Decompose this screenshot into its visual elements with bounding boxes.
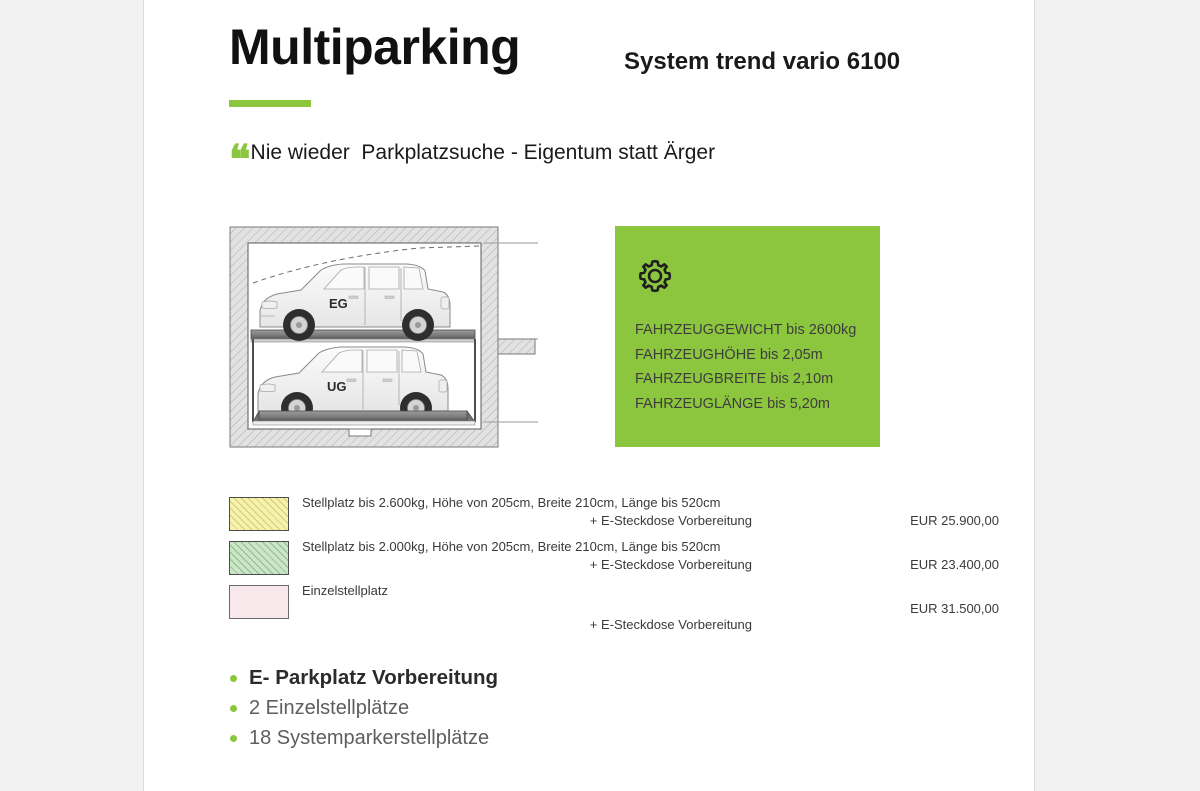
legend-line-2: + E-Steckdose Vorbereitung <box>302 600 752 634</box>
parking-lift-diagram: EG <box>229 226 539 448</box>
list-item: E- Parkplatz Vorbereitung <box>229 663 829 693</box>
right-slab <box>498 339 535 354</box>
swatch-yellow-hatched <box>229 497 289 531</box>
legend-price: EUR 25.900,00 <box>804 512 999 530</box>
spec-item-height: FAHRZEUGHÖHE bis 2,05m <box>635 343 875 368</box>
spec-item-length: FAHRZEUGLÄNGE bis 5,20m <box>635 392 875 417</box>
level-label-eg: EG <box>329 296 348 311</box>
tagline-row: ❝ Nie wieder Parkplatzsuche - Eigentum s… <box>229 136 715 170</box>
swatch-green-hatched <box>229 541 289 575</box>
document-page: Multiparking System trend vario 6100 ❝ N… <box>143 0 1035 791</box>
spec-item-width: FAHRZEUGBREITE bis 2,10m <box>635 367 875 392</box>
wheel <box>402 309 434 341</box>
legend-line-1: Stellplatz bis 2.000kg, Höhe von 205cm, … <box>302 539 720 554</box>
list-item-label: E- Parkplatz Vorbereitung <box>249 666 498 689</box>
wheel <box>283 309 315 341</box>
legend-row: Stellplatz bis 2.600kg, Höhe von 205cm, … <box>229 494 999 538</box>
legend-description: Stellplatz bis 2.600kg, Höhe von 205cm, … <box>302 494 752 530</box>
list-item: 18 Systemparkerstellplätze <box>229 723 829 753</box>
page-title: Multiparking <box>229 22 520 72</box>
page-header: Multiparking System trend vario 6100 <box>229 22 989 112</box>
legend-line-2: + E-Steckdose Vorbereitung <box>302 556 752 574</box>
bullet-dot-icon <box>230 735 237 742</box>
legend-price: EUR 31.500,00 <box>804 600 999 618</box>
legend-line-1: Einzelstellplatz <box>302 583 388 598</box>
vehicle-specs-box: FAHRZEUGGEWICHT bis 2600kg FAHRZEUGHÖHE … <box>615 226 880 447</box>
page-subtitle: System trend vario 6100 <box>624 48 900 76</box>
legend-line-1: Stellplatz bis 2.600kg, Höhe von 205cm, … <box>302 495 720 510</box>
bullet-dot-icon <box>230 675 237 682</box>
legend-description: Stellplatz bis 2.000kg, Höhe von 205cm, … <box>302 538 752 574</box>
spec-list: FAHRZEUGGEWICHT bis 2600kg FAHRZEUGHÖHE … <box>635 318 875 416</box>
green-accent-bar <box>229 100 311 107</box>
legend-line-2: + E-Steckdose Vorbereitung <box>302 512 752 530</box>
swatch-pink-solid <box>229 585 289 619</box>
feature-list: E- Parkplatz Vorbereitung 2 Einzelstellp… <box>229 663 829 753</box>
gear-icon <box>636 257 674 295</box>
list-item-label: 2 Einzelstellplätze <box>249 697 409 719</box>
bullet-dot-icon <box>230 705 237 712</box>
quote-mark-icon: ❝ <box>229 140 249 180</box>
legend-description: Einzelstellplatz + E-Steckdose Vorbereit… <box>302 582 752 634</box>
price-legend: Stellplatz bis 2.600kg, Höhe von 205cm, … <box>229 494 999 626</box>
list-item: 2 Einzelstellplätze <box>229 693 829 723</box>
legend-price: EUR 23.400,00 <box>804 556 999 574</box>
level-label-ug: UG <box>327 379 347 394</box>
legend-row: Stellplatz bis 2.000kg, Höhe von 205cm, … <box>229 538 999 582</box>
list-item-label: 18 Systemparkerstellplätze <box>249 727 489 749</box>
tagline-text: Nie wieder Parkplatzsuche - Eigentum sta… <box>251 141 716 165</box>
spec-item-weight: FAHRZEUGGEWICHT bis 2600kg <box>635 318 875 343</box>
legend-row: Einzelstellplatz + E-Steckdose Vorbereit… <box>229 582 999 626</box>
